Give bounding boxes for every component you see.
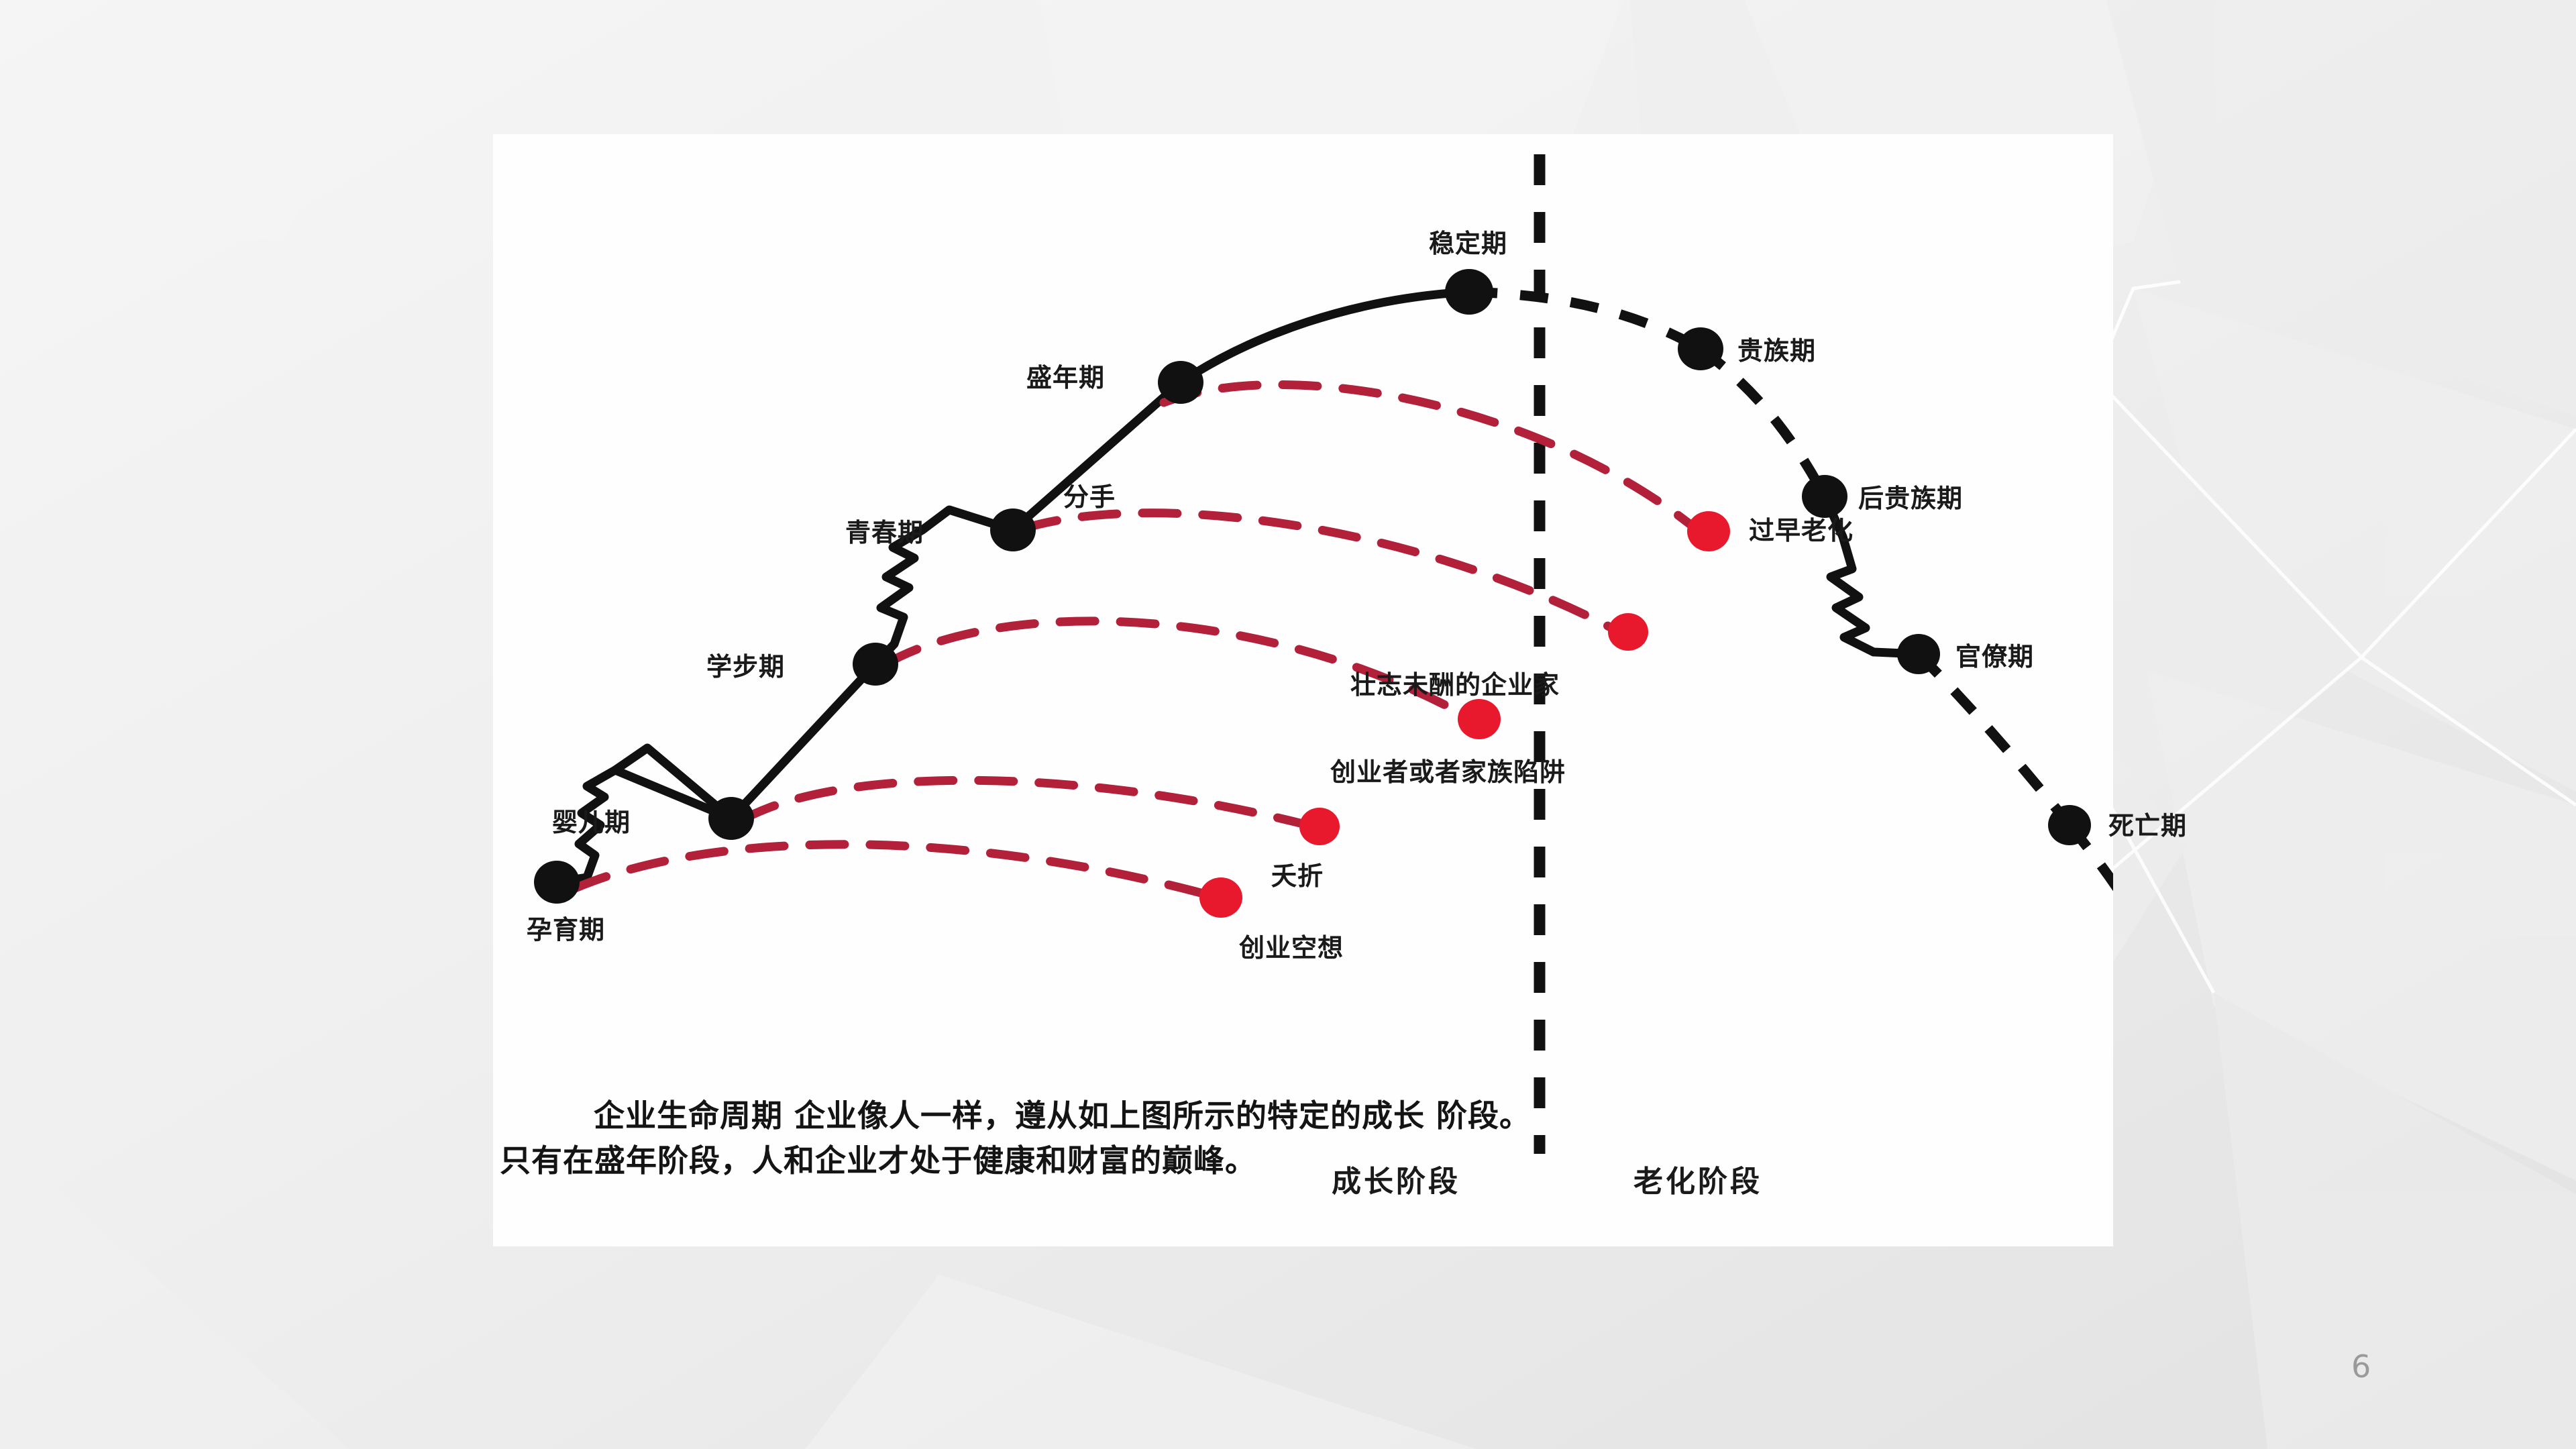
page-number: 6	[2351, 1348, 2371, 1385]
branch-premature-aging	[1164, 384, 1697, 530]
caption-line-1: 企业生命周期 企业像人一样，遵从如上图所示的特定的成长 阶段。	[493, 1093, 2113, 1138]
label-divorce: 分手	[1063, 476, 1116, 513]
node-prime	[1158, 361, 1203, 404]
node-courtship	[534, 861, 580, 904]
label-stable: 稳定期	[1429, 223, 1507, 260]
node-infancy	[708, 797, 754, 840]
label-founder-trap: 创业者或者家族陷阱	[1330, 751, 1566, 788]
label-infancy: 婴儿期	[552, 802, 631, 839]
node-aristocracy	[1678, 327, 1723, 370]
label-infant-mortality: 夭折	[1271, 855, 1324, 892]
dot-affair	[1199, 877, 1242, 918]
node-adolescence	[990, 508, 1036, 551]
label-courtship: 孕育期	[527, 909, 605, 946]
aging-curve	[1469, 292, 2113, 939]
label-premature-aging: 过早老化	[1749, 510, 1854, 547]
node-death	[2048, 805, 2091, 845]
label-bureaucracy: 官僚期	[1955, 636, 2034, 673]
aging-node-dots	[1678, 327, 2091, 845]
caption-block: 企业生命周期 企业像人一样，遵从如上图所示的特定的成长 阶段。 只有在盛年阶段，…	[493, 1093, 2113, 1183]
label-adolescence: 青春期	[845, 512, 924, 549]
branch-infant-mortality	[743, 780, 1308, 825]
label-post-aristocracy: 后贵族期	[1858, 478, 1963, 515]
branch-affair	[574, 845, 1211, 896]
label-aristocracy: 贵族期	[1737, 330, 1816, 367]
dot-unfulfilled-entrepreneur	[1608, 613, 1648, 651]
label-prime: 盛年期	[1026, 357, 1105, 394]
label-death: 死亡期	[2108, 805, 2187, 842]
node-bureaucracy	[1897, 634, 1940, 674]
dot-premature-aging	[1687, 511, 1730, 551]
lifecycle-diagram: .blk{stroke:#111111;stroke-width:13;fill…	[493, 134, 2113, 1246]
branch-unfulfilled-entrepreneur	[1023, 513, 1617, 631]
node-go-go	[853, 643, 898, 686]
label-go-go: 学步期	[706, 646, 785, 683]
dot-infant-mortality	[1299, 808, 1340, 845]
dot-founder-trap	[1458, 699, 1501, 739]
label-unfulfilled-entrepreneur: 壮志未酬的企业家	[1350, 664, 1560, 701]
growth-node-dots	[534, 269, 1493, 904]
node-stable	[1445, 269, 1493, 315]
caption-line-2: 只有在盛年阶段，人和企业才处于健康和财富的巅峰。	[493, 1138, 2113, 1183]
content-panel: .blk{stroke:#111111;stroke-width:13;fill…	[493, 134, 2113, 1246]
slide-root: .blk{stroke:#111111;stroke-width:13;fill…	[0, 0, 2576, 1449]
label-affair: 创业空想	[1239, 927, 1344, 964]
